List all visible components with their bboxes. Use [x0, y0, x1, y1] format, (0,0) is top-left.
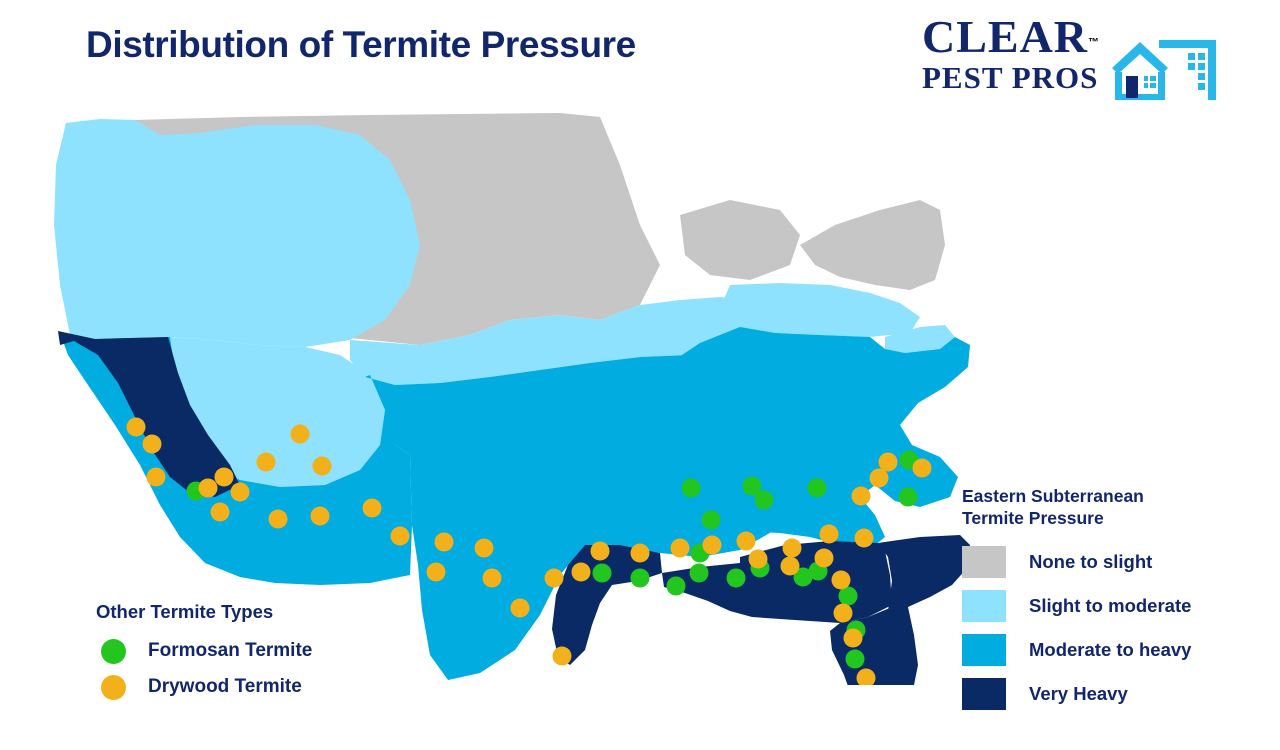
drywood-termite-dot — [671, 539, 690, 558]
pressure-legend-title-line2: Termite Pressure — [962, 508, 1104, 528]
drywood-termite-dot — [855, 529, 874, 548]
legend-item-moderate-to-heavy[interactable]: Moderate to heavy — [962, 630, 1262, 670]
drywood-termite-dot — [749, 550, 768, 569]
drywood-termite-dot — [852, 487, 871, 506]
drywood-termite-dot — [553, 647, 572, 666]
formosan-termite-dot — [690, 564, 709, 583]
swatch-none-to-slight — [962, 546, 1006, 578]
drywood-termite-dot — [783, 539, 802, 558]
legend-item-formosan[interactable]: Formosan Termite — [96, 634, 416, 668]
zone-very-heavy-southeast — [878, 535, 970, 611]
drywood-termite-dot — [844, 629, 863, 648]
drywood-termite-dot — [737, 532, 756, 551]
map-zone-layer — [54, 113, 970, 685]
drywood-termite-dot — [832, 571, 851, 590]
drywood-termite-dot — [483, 569, 502, 588]
zone-moderate-to-heavy-east — [640, 327, 970, 549]
drywood-termite-dot — [870, 469, 889, 488]
termite-pressure-map-page: Distribution of Termite Pressure CLEAR™ … — [0, 0, 1280, 750]
logo-line-pest-pros: PEST PROS — [922, 62, 1099, 93]
legend-label-none-to-slight: None to slight — [1029, 551, 1152, 573]
pressure-legend-title-line1: Eastern Subterranean — [962, 486, 1144, 506]
drywood-termite-dot — [257, 453, 276, 472]
drywood-termite-dot — [703, 536, 722, 555]
drywood-termite-dot — [143, 435, 162, 454]
drywood-termite-dot — [591, 542, 610, 561]
drywood-termite-dot — [313, 457, 332, 476]
legend-label-slight-to-moderate: Slight to moderate — [1029, 595, 1191, 617]
termite-types-legend-title: Other Termite Types — [96, 601, 416, 623]
drywood-termite-dot — [291, 425, 310, 444]
legend-item-slight-to-moderate[interactable]: Slight to moderate — [962, 586, 1262, 626]
drywood-termite-dot — [311, 507, 330, 526]
zone-none-to-slight-great-lakes — [680, 200, 800, 280]
drywood-termite-dot — [231, 483, 250, 502]
drywood-termite-dot — [147, 468, 166, 487]
formosan-termite-dot — [755, 491, 774, 510]
formosan-termite-dot — [846, 650, 865, 669]
swatch-moderate-to-heavy — [962, 634, 1006, 666]
legend-label-moderate-to-heavy: Moderate to heavy — [1029, 639, 1191, 661]
swatch-very-heavy — [962, 678, 1006, 710]
logo-line-clear: CLEAR™ — [922, 14, 1099, 60]
drywood-termite-dot — [427, 563, 446, 582]
brand-logo: CLEAR™ PEST PROS — [922, 14, 1222, 104]
legend-item-drywood[interactable]: Drywood Termite — [96, 670, 416, 704]
logo-wordmark: CLEAR™ PEST PROS — [922, 14, 1099, 93]
drywood-termite-dot — [834, 604, 853, 623]
legend-label-formosan: Formosan Termite — [148, 640, 312, 662]
formosan-termite-dot — [593, 564, 612, 583]
legend-item-none-to-slight[interactable]: None to slight — [962, 542, 1262, 582]
drywood-termite-dot — [211, 503, 230, 522]
formosan-termite-dot — [682, 479, 701, 498]
drywood-termite-dot — [913, 459, 932, 478]
orange-dot-icon — [101, 675, 126, 700]
trademark-icon: ™ — [1088, 37, 1099, 49]
drywood-termite-dot — [572, 563, 591, 582]
zone-none-to-slight-new-england — [800, 200, 945, 290]
formosan-termite-dot — [727, 569, 746, 588]
page-title: Distribution of Termite Pressure — [86, 24, 636, 66]
us-termite-pressure-map — [40, 105, 970, 685]
drywood-termite-dot — [435, 533, 454, 552]
pressure-legend-title: Eastern Subterranean Termite Pressure — [962, 486, 1262, 530]
formosan-termite-dot — [631, 569, 650, 588]
drywood-termite-dot — [269, 510, 288, 529]
drywood-termite-dot — [781, 557, 800, 576]
zone-slight-to-moderate-pnw — [54, 119, 420, 347]
formosan-termite-dot — [899, 488, 918, 507]
house-building-icon — [1102, 20, 1222, 107]
formosan-termite-dot — [702, 511, 721, 530]
drywood-termite-dot — [631, 544, 650, 563]
drywood-termite-dot — [879, 453, 898, 472]
drywood-termite-dot — [475, 539, 494, 558]
drywood-termite-dot — [820, 525, 839, 544]
legend-item-very-heavy[interactable]: Very Heavy — [962, 674, 1262, 714]
pressure-legend: Eastern Subterranean Termite Pressure No… — [962, 486, 1262, 718]
formosan-termite-dot — [667, 577, 686, 596]
swatch-slight-to-moderate — [962, 590, 1006, 622]
termite-types-legend: Other Termite Types Formosan Termite Dry… — [96, 601, 416, 706]
drywood-termite-dot — [815, 549, 834, 568]
drywood-termite-dot — [511, 599, 530, 618]
drywood-termite-dot — [215, 468, 234, 487]
legend-label-very-heavy: Very Heavy — [1029, 683, 1128, 705]
drywood-termite-dot — [363, 499, 382, 518]
drywood-termite-dot — [199, 479, 218, 498]
green-dot-icon — [101, 639, 126, 664]
drywood-termite-dot — [127, 418, 146, 437]
drywood-termite-dot — [545, 569, 564, 588]
legend-label-drywood: Drywood Termite — [148, 676, 302, 698]
drywood-termite-dot — [391, 527, 410, 546]
formosan-termite-dot — [808, 479, 827, 498]
